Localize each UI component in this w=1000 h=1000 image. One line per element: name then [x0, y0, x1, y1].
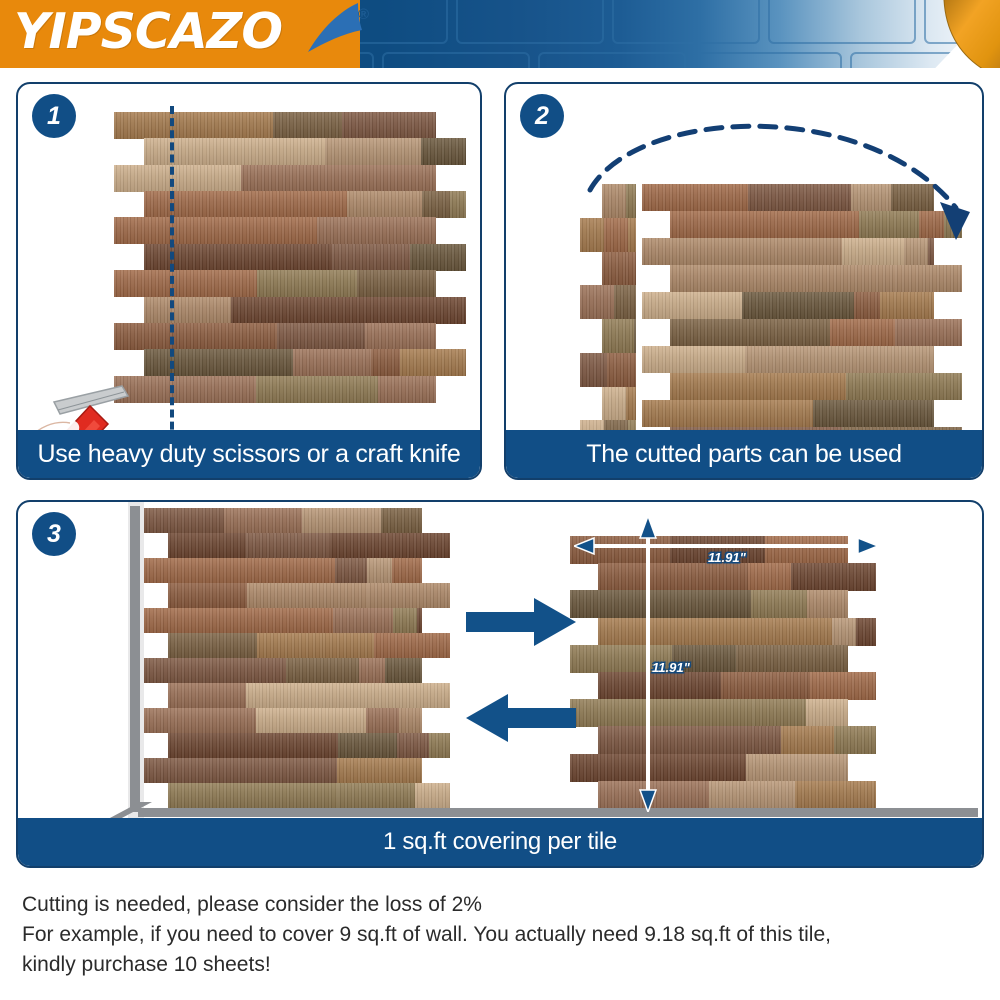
wood-plank: [114, 323, 277, 350]
tile-mosaic-step1: [114, 112, 466, 402]
plank-row: [168, 783, 450, 808]
tile-mosaic-step3-left: [140, 508, 450, 808]
infographic-page: YIPSCAZO ® 1: [0, 0, 1000, 1000]
wood-plank: [642, 346, 745, 373]
plank-row: [642, 400, 934, 427]
plank-row: [144, 297, 466, 324]
wood-plank: [742, 292, 854, 319]
wood-plank: [830, 319, 895, 346]
wood-plank: [140, 758, 337, 783]
plank-row: [570, 590, 848, 618]
plank-row: [140, 558, 422, 583]
wood-plank: [140, 658, 286, 683]
wood-plank: [736, 645, 848, 673]
plank-row: [144, 191, 466, 218]
wall-corner-edge: [130, 506, 140, 812]
curved-dashed-arrow-icon: [566, 90, 984, 270]
wood-plank: [607, 353, 636, 387]
wood-plank: [335, 558, 367, 583]
wood-plank: [246, 533, 330, 558]
step-2-caption: The cutted parts can be used: [506, 430, 982, 478]
left-arrow-icon: [466, 694, 576, 742]
wood-plank: [144, 349, 293, 376]
plank-row: [670, 319, 962, 346]
wood-plank: [246, 683, 450, 708]
wood-plank: [856, 618, 876, 646]
step-3-panel: 3 11.91" 11.91": [16, 500, 984, 868]
height-dimension-label: 11.91": [652, 660, 690, 675]
wood-plank: [273, 112, 342, 139]
plank-row: [140, 608, 422, 633]
wood-plank: [415, 783, 450, 808]
wood-plank: [602, 319, 634, 353]
wood-plank: [366, 708, 399, 733]
wood-plank: [400, 349, 466, 376]
wood-plank: [854, 292, 880, 319]
wood-plank: [365, 323, 436, 350]
wood-plank: [224, 508, 302, 533]
step-3-badge: 3: [32, 512, 76, 556]
wood-plank: [421, 138, 466, 165]
wood-plank: [371, 349, 400, 376]
wood-plank: [834, 726, 876, 754]
wood-plank: [114, 217, 317, 244]
wood-plank: [614, 285, 636, 319]
wood-plank: [393, 608, 417, 633]
wood-plank: [602, 387, 626, 421]
wood-plank: [746, 754, 848, 782]
plank-row: [642, 346, 934, 373]
wood-plank: [429, 733, 450, 758]
wood-plank: [378, 376, 436, 403]
wood-plank: [241, 165, 436, 192]
plank-row: [144, 349, 466, 376]
wood-plank: [580, 353, 607, 387]
wood-plank: [293, 349, 371, 376]
wood-plank: [333, 608, 393, 633]
wood-plank: [140, 708, 256, 733]
floor-baseline: [138, 808, 978, 817]
wood-plank: [338, 783, 415, 808]
plank-row: [570, 699, 848, 727]
wood-plank: [751, 590, 807, 618]
wood-plank: [392, 558, 422, 583]
footer-line-2: For example, if you need to cover 9 sq.f…: [22, 920, 982, 950]
wood-plank: [807, 590, 848, 618]
wood-plank: [144, 297, 231, 324]
wood-plank: [381, 508, 422, 533]
plank-row: [168, 633, 450, 658]
wood-plank: [140, 508, 224, 533]
wood-plank: [325, 138, 421, 165]
wood-plank: [168, 683, 246, 708]
plank-row: [580, 353, 636, 387]
wood-plank: [753, 699, 806, 727]
plank-row: [114, 165, 436, 192]
wood-plank: [256, 376, 378, 403]
plank-row: [602, 319, 636, 353]
footer-line-1: Cutting is needed, please consider the l…: [22, 890, 982, 920]
wood-plank: [626, 387, 636, 421]
step-1-panel: 1 Use heavy duty scissors or a craft kni: [16, 82, 482, 480]
wood-plank: [634, 319, 636, 353]
wood-plank: [385, 658, 422, 683]
wood-plank: [450, 191, 466, 218]
wood-plank: [670, 319, 830, 346]
plank-row: [168, 533, 450, 558]
plank-row: [114, 323, 436, 350]
wood-plank: [140, 558, 335, 583]
wood-plank: [810, 672, 876, 700]
plank-row: [144, 138, 466, 165]
wood-plank: [781, 726, 834, 754]
plank-row: [114, 112, 436, 139]
wood-plank: [374, 633, 450, 658]
wood-plank: [337, 758, 422, 783]
wood-plank: [806, 699, 848, 727]
plank-row: [642, 292, 934, 319]
wood-plank: [397, 733, 429, 758]
tile-mosaic-step3-right: [570, 536, 876, 808]
brand-header: YIPSCAZO ®: [0, 0, 1000, 68]
wood-plank: [748, 563, 791, 591]
step-1-badge: 1: [32, 94, 76, 138]
wood-plank: [114, 112, 273, 139]
wood-plank: [846, 373, 962, 400]
footer-line-3: kindly purchase 10 sheets!: [22, 950, 982, 980]
wood-plank: [580, 285, 614, 319]
plank-row: [670, 373, 962, 400]
wood-plank: [895, 319, 962, 346]
wood-plank: [257, 270, 357, 297]
wood-plank: [791, 563, 876, 591]
wood-plank: [399, 708, 422, 733]
wood-plank: [832, 618, 856, 646]
wood-plank: [330, 533, 450, 558]
wood-plank: [745, 346, 934, 373]
wood-plank: [256, 708, 366, 733]
wood-plank: [813, 400, 934, 427]
wood-plank: [332, 244, 410, 271]
step-3-caption: 1 sq.ft covering per tile: [18, 818, 982, 866]
brand-wordmark: YIPSCAZO: [14, 3, 282, 60]
step-2-panel: 2 The cutted parts can be used: [504, 82, 984, 480]
wood-plank: [302, 508, 381, 533]
wood-plank: [642, 400, 813, 427]
right-arrow-icon: [466, 598, 576, 646]
plank-row: [140, 708, 422, 733]
wood-plank: [670, 373, 846, 400]
plank-row: [114, 217, 436, 244]
wood-plank: [357, 270, 436, 297]
plank-row: [114, 270, 436, 297]
registered-trademark-icon: ®: [358, 6, 369, 23]
wood-plank: [795, 781, 876, 809]
wood-plank: [342, 112, 436, 139]
wood-plank: [642, 292, 742, 319]
plank-row: [140, 508, 422, 533]
plank-row: [140, 758, 422, 783]
wood-plank: [368, 583, 450, 608]
wood-plank: [359, 658, 385, 683]
wood-plank: [790, 618, 832, 646]
page-curl-icon: [870, 0, 1000, 68]
plank-row: [602, 387, 636, 421]
wood-plank: [168, 533, 246, 558]
wood-plank: [231, 297, 466, 324]
wood-plank: [598, 563, 748, 591]
wood-plank: [338, 733, 397, 758]
wood-plank: [709, 781, 795, 809]
plank-row: [570, 645, 848, 673]
wood-plank: [114, 270, 257, 297]
plank-row: [570, 754, 848, 782]
wood-plank: [257, 633, 323, 658]
wood-plank: [144, 191, 347, 218]
wood-plank: [598, 618, 790, 646]
wood-plank: [168, 583, 247, 608]
wood-plank: [422, 191, 450, 218]
plank-row: [168, 733, 450, 758]
wood-plank: [347, 191, 422, 218]
wood-plank: [168, 633, 257, 658]
wood-plank: [140, 608, 333, 633]
wood-plank: [168, 783, 338, 808]
wood-plank: [598, 726, 781, 754]
width-dimension-label: 11.91": [708, 550, 746, 565]
footer-note: Cutting is needed, please consider the l…: [22, 890, 982, 980]
plank-row: [168, 583, 450, 608]
wood-plank: [367, 558, 392, 583]
wood-plank: [114, 165, 241, 192]
wood-plank: [247, 583, 368, 608]
wood-plank: [286, 658, 359, 683]
dashed-cut-line-icon: [170, 106, 174, 466]
plank-row: [140, 658, 422, 683]
plank-row: [168, 683, 450, 708]
wood-plank: [323, 633, 374, 658]
step-2-badge: 2: [520, 94, 564, 138]
wood-plank: [277, 323, 365, 350]
wood-plank: [168, 733, 338, 758]
wood-plank: [721, 672, 810, 700]
wood-plank: [880, 292, 934, 319]
plank-row: [144, 244, 466, 271]
plank-row: [580, 285, 636, 319]
wood-plank: [410, 244, 466, 271]
wood-plank: [417, 608, 422, 633]
step-1-caption: Use heavy duty scissors or a craft knife: [18, 430, 480, 478]
wood-plank: [317, 217, 436, 244]
